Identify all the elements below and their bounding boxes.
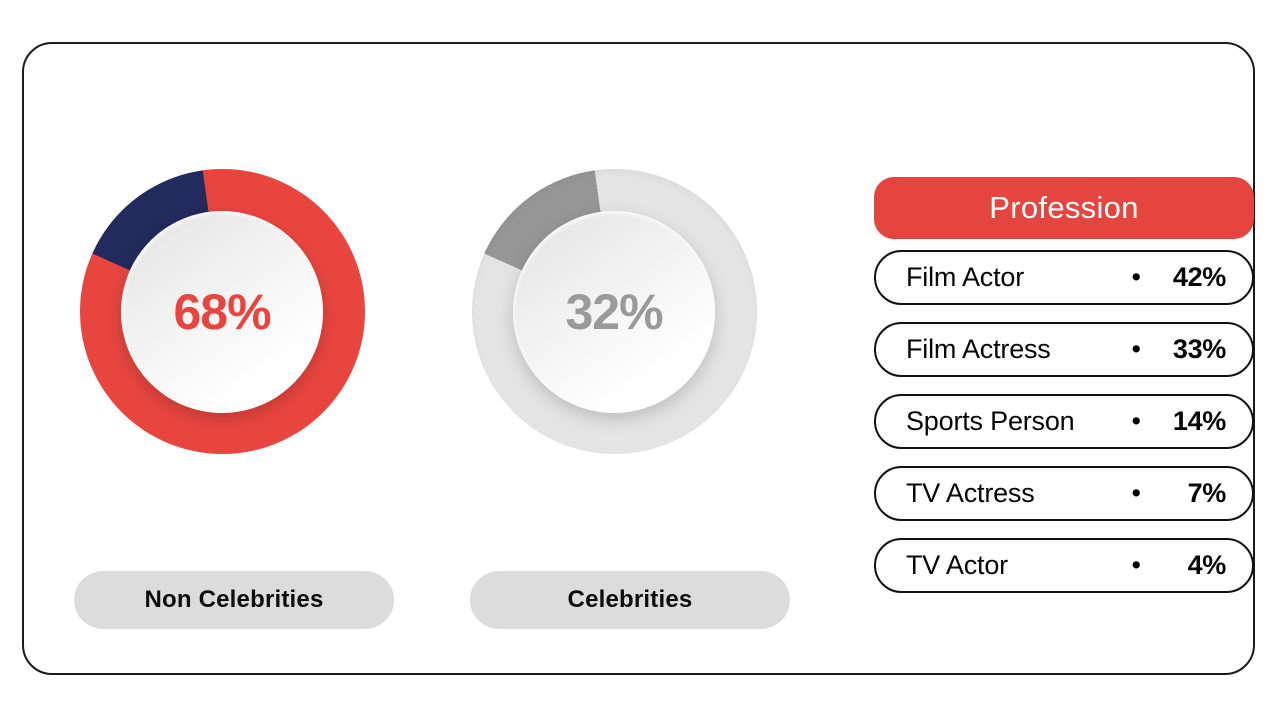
infographic-card: 68% 32% Non Celebrities Celebrities Prof… (22, 42, 1255, 675)
legend-value: 42% (1148, 262, 1226, 293)
bullet-icon: • (1132, 408, 1141, 435)
legend-row-film-actor[interactable]: Film Actor • 42% (874, 250, 1254, 305)
legend-row-tv-actor[interactable]: TV Actor • 4% (874, 538, 1254, 593)
donut-center-celebrities: 32% (513, 211, 715, 413)
donut-value-non-celebrities: 68% (173, 287, 270, 337)
legend-value: 33% (1148, 334, 1226, 365)
infographic-canvas: 68% 32% Non Celebrities Celebrities Prof… (0, 0, 1280, 720)
donut-chart-non-celebrities[interactable]: 68% (80, 169, 365, 454)
bullet-icon: • (1132, 336, 1141, 363)
legend-label: Sports Person (906, 406, 1132, 437)
legend-value: 7% (1148, 478, 1226, 509)
profession-legend: Profession Film Actor • 42% Film Actress… (874, 177, 1254, 593)
legend-label: TV Actress (906, 478, 1132, 509)
bullet-icon: • (1132, 264, 1141, 291)
legend-value: 14% (1148, 406, 1226, 437)
bullet-icon: • (1132, 552, 1141, 579)
donut-block-celebrities: 32% (464, 169, 764, 454)
donut-chart-celebrities[interactable]: 32% (472, 169, 757, 454)
donut-value-celebrities: 32% (565, 287, 662, 337)
legend-row-film-actress[interactable]: Film Actress • 33% (874, 322, 1254, 377)
legend-label: Film Actor (906, 262, 1132, 293)
legend-label: Film Actress (906, 334, 1132, 365)
legend-header-profession: Profession (874, 177, 1254, 239)
legend-value: 4% (1148, 550, 1226, 581)
legend-label: TV Actor (906, 550, 1132, 581)
donut-center-non-celebrities: 68% (121, 211, 323, 413)
donut-block-non-celebrities: 68% (72, 169, 372, 454)
legend-row-sports-person[interactable]: Sports Person • 14% (874, 394, 1254, 449)
bullet-icon: • (1132, 480, 1141, 507)
donut-caption-non-celebrities: Non Celebrities (74, 571, 394, 629)
legend-row-tv-actress[interactable]: TV Actress • 7% (874, 466, 1254, 521)
donut-caption-celebrities: Celebrities (470, 571, 790, 629)
